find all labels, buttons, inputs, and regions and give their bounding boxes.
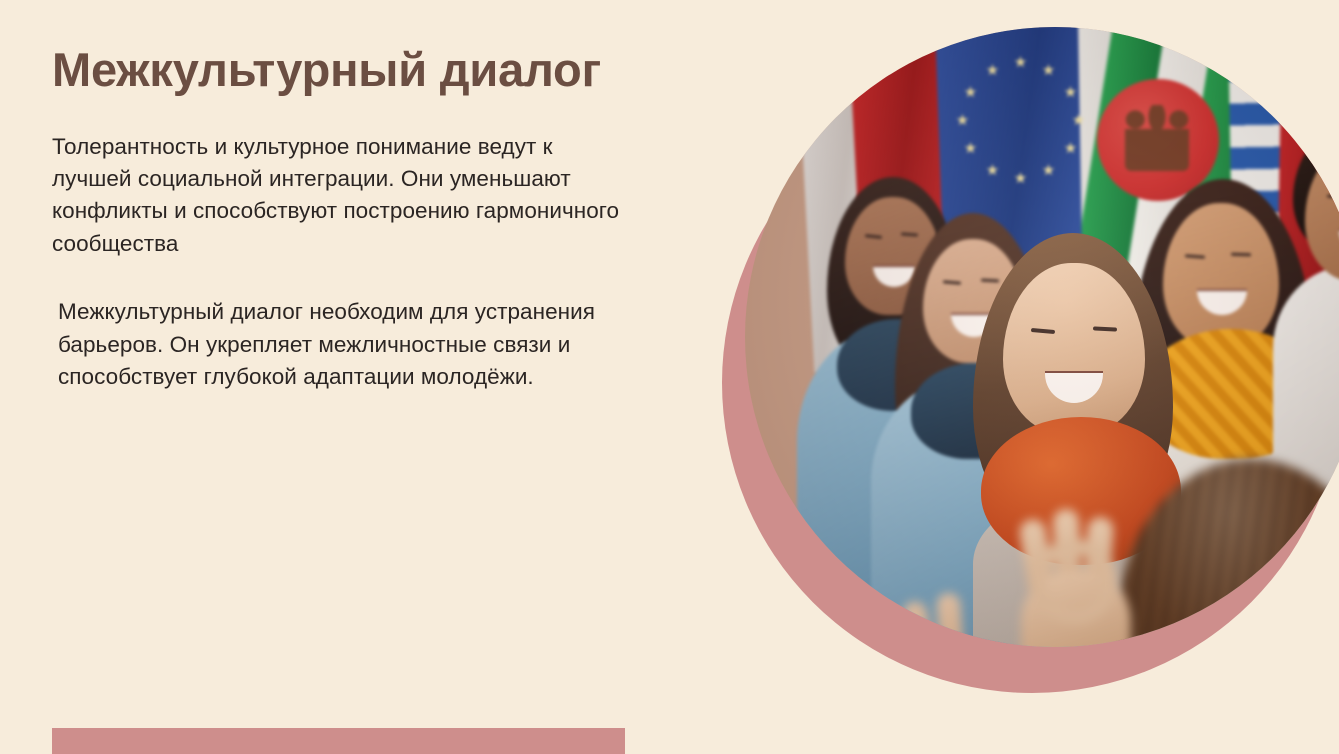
face (1003, 263, 1145, 435)
image-composition: ★ ★ ★ ★ ★ ★ ★ ★ ★ ★ ★ ★ (700, 0, 1339, 754)
body-paragraph-1: Толерантность и культурное понимание вед… (52, 131, 632, 261)
slide-canvas: Межкультурный диалог Толерантность и кул… (0, 0, 1339, 754)
text-column: Межкультурный диалог Толерантность и кул… (52, 44, 652, 393)
finger (901, 600, 941, 647)
page-title: Межкультурный диалог (52, 44, 652, 97)
ok-ring (1031, 539, 1117, 625)
finger (936, 592, 967, 647)
bottom-accent-bar (52, 728, 625, 754)
body-paragraph-2: Межкультурный диалог необходим для устра… (52, 296, 638, 393)
hand-foreground (895, 587, 1025, 647)
eye-right (1231, 253, 1251, 257)
people-group (745, 27, 1339, 647)
photo-circle: ★ ★ ★ ★ ★ ★ ★ ★ ★ ★ ★ ★ (745, 27, 1339, 647)
hand-ok-gesture (1003, 497, 1153, 647)
group-photo: ★ ★ ★ ★ ★ ★ ★ ★ ★ ★ ★ ★ (745, 27, 1339, 647)
face (1163, 203, 1279, 349)
